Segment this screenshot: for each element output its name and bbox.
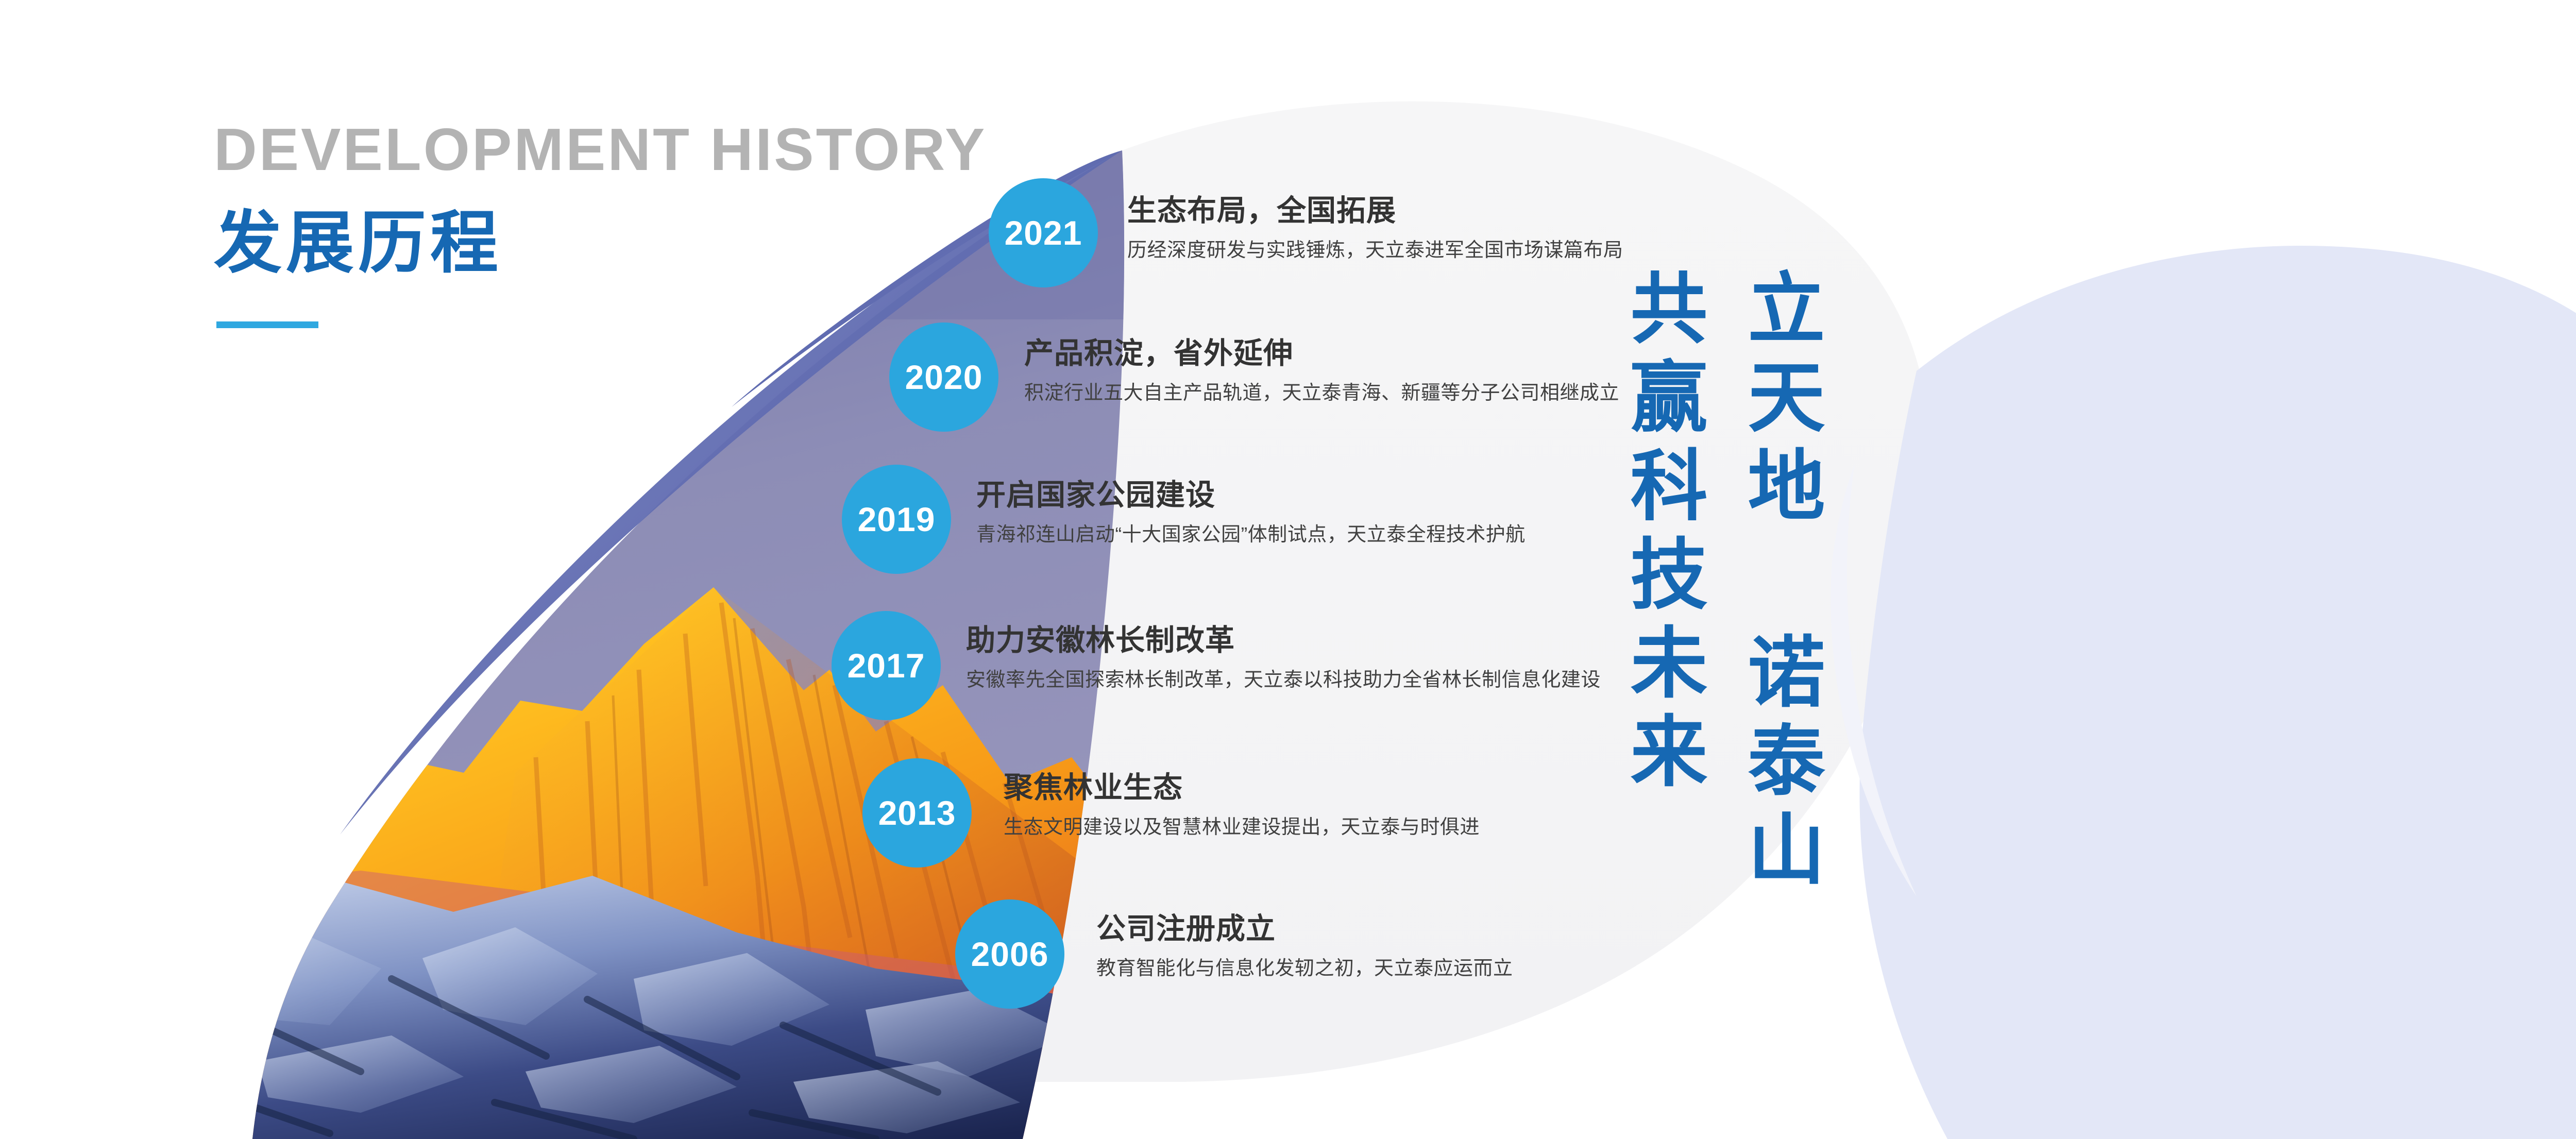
timeline-year-badge-2006[interactable]: 2006: [955, 899, 1064, 1009]
timeline-text-2021: 生态布局，全国拓展 历经深度研发与实践锤炼，天立泰进军全国市场谋篇布局: [1127, 195, 1623, 262]
timeline-year-badge-2017[interactable]: 2017: [832, 611, 941, 720]
timeline-text-2006: 公司注册成立 教育智能化与信息化发轫之初，天立泰应运而立: [1096, 913, 1513, 980]
timeline-text-2013: 聚焦林业生态 生态文明建设以及智慧林业建设提出，天立泰与时俱进: [1004, 772, 1480, 839]
timeline-title-2020: 产品积淀，省外延伸: [1024, 337, 1619, 370]
timeline-desc-2017: 安徽率先全国探索林长制改革，天立泰以科技助力全省林长制信息化建设: [966, 669, 1601, 692]
slogan-column-left: 共赢科技未来: [1624, 268, 1701, 897]
timeline-text-2020: 产品积淀，省外延伸 积淀行业五大自主产品轨道，天立泰青海、新疆等分子公司相继成立: [1024, 337, 1619, 404]
timeline-year-badge-2013[interactable]: 2013: [862, 758, 972, 868]
brand-slogan: 共赢科技未来 立天地 诺泰山: [1624, 268, 2576, 897]
timeline-year-badge-2021[interactable]: 2021: [989, 178, 1098, 287]
timeline-desc-2020: 积淀行业五大自主产品轨道，天立泰青海、新疆等分子公司相继成立: [1024, 382, 1619, 405]
timeline-title-2019: 开启国家公园建设: [976, 479, 1526, 512]
timeline-text-2017: 助力安徽林长制改革 安徽率先全国探索林长制改革，天立泰以科技助力全省林长制信息化…: [966, 624, 1601, 691]
timeline-desc-2019: 青海祁连山启动“十大国家公园”体制试点，天立泰全程技术护航: [976, 524, 1526, 547]
timeline-title-2006: 公司注册成立: [1096, 913, 1513, 945]
slogan-column-right: 立天地 诺泰山: [1741, 268, 1819, 897]
timeline-year-badge-2019[interactable]: 2019: [842, 465, 951, 574]
slide-canvas: DEVELOPMENT HISTORY 发展历程 2021 生态布局，全国拓展 …: [0, 0, 2576, 1139]
timeline-text-2019: 开启国家公园建设 青海祁连山启动“十大国家公园”体制试点，天立泰全程技术护航: [976, 479, 1526, 546]
timeline-year-badge-2020[interactable]: 2020: [889, 322, 998, 432]
timeline-title-2021: 生态布局，全国拓展: [1127, 195, 1623, 227]
timeline-desc-2006: 教育智能化与信息化发轫之初，天立泰应运而立: [1096, 958, 1513, 980]
timeline-desc-2021: 历经深度研发与实践锤炼，天立泰进军全国市场谋篇布局: [1127, 240, 1623, 262]
timeline-title-2017: 助力安徽林长制改革: [966, 624, 1601, 657]
timeline-desc-2013: 生态文明建设以及智慧林业建设提出，天立泰与时俱进: [1004, 817, 1480, 839]
timeline-title-2013: 聚焦林业生态: [1004, 772, 1480, 804]
